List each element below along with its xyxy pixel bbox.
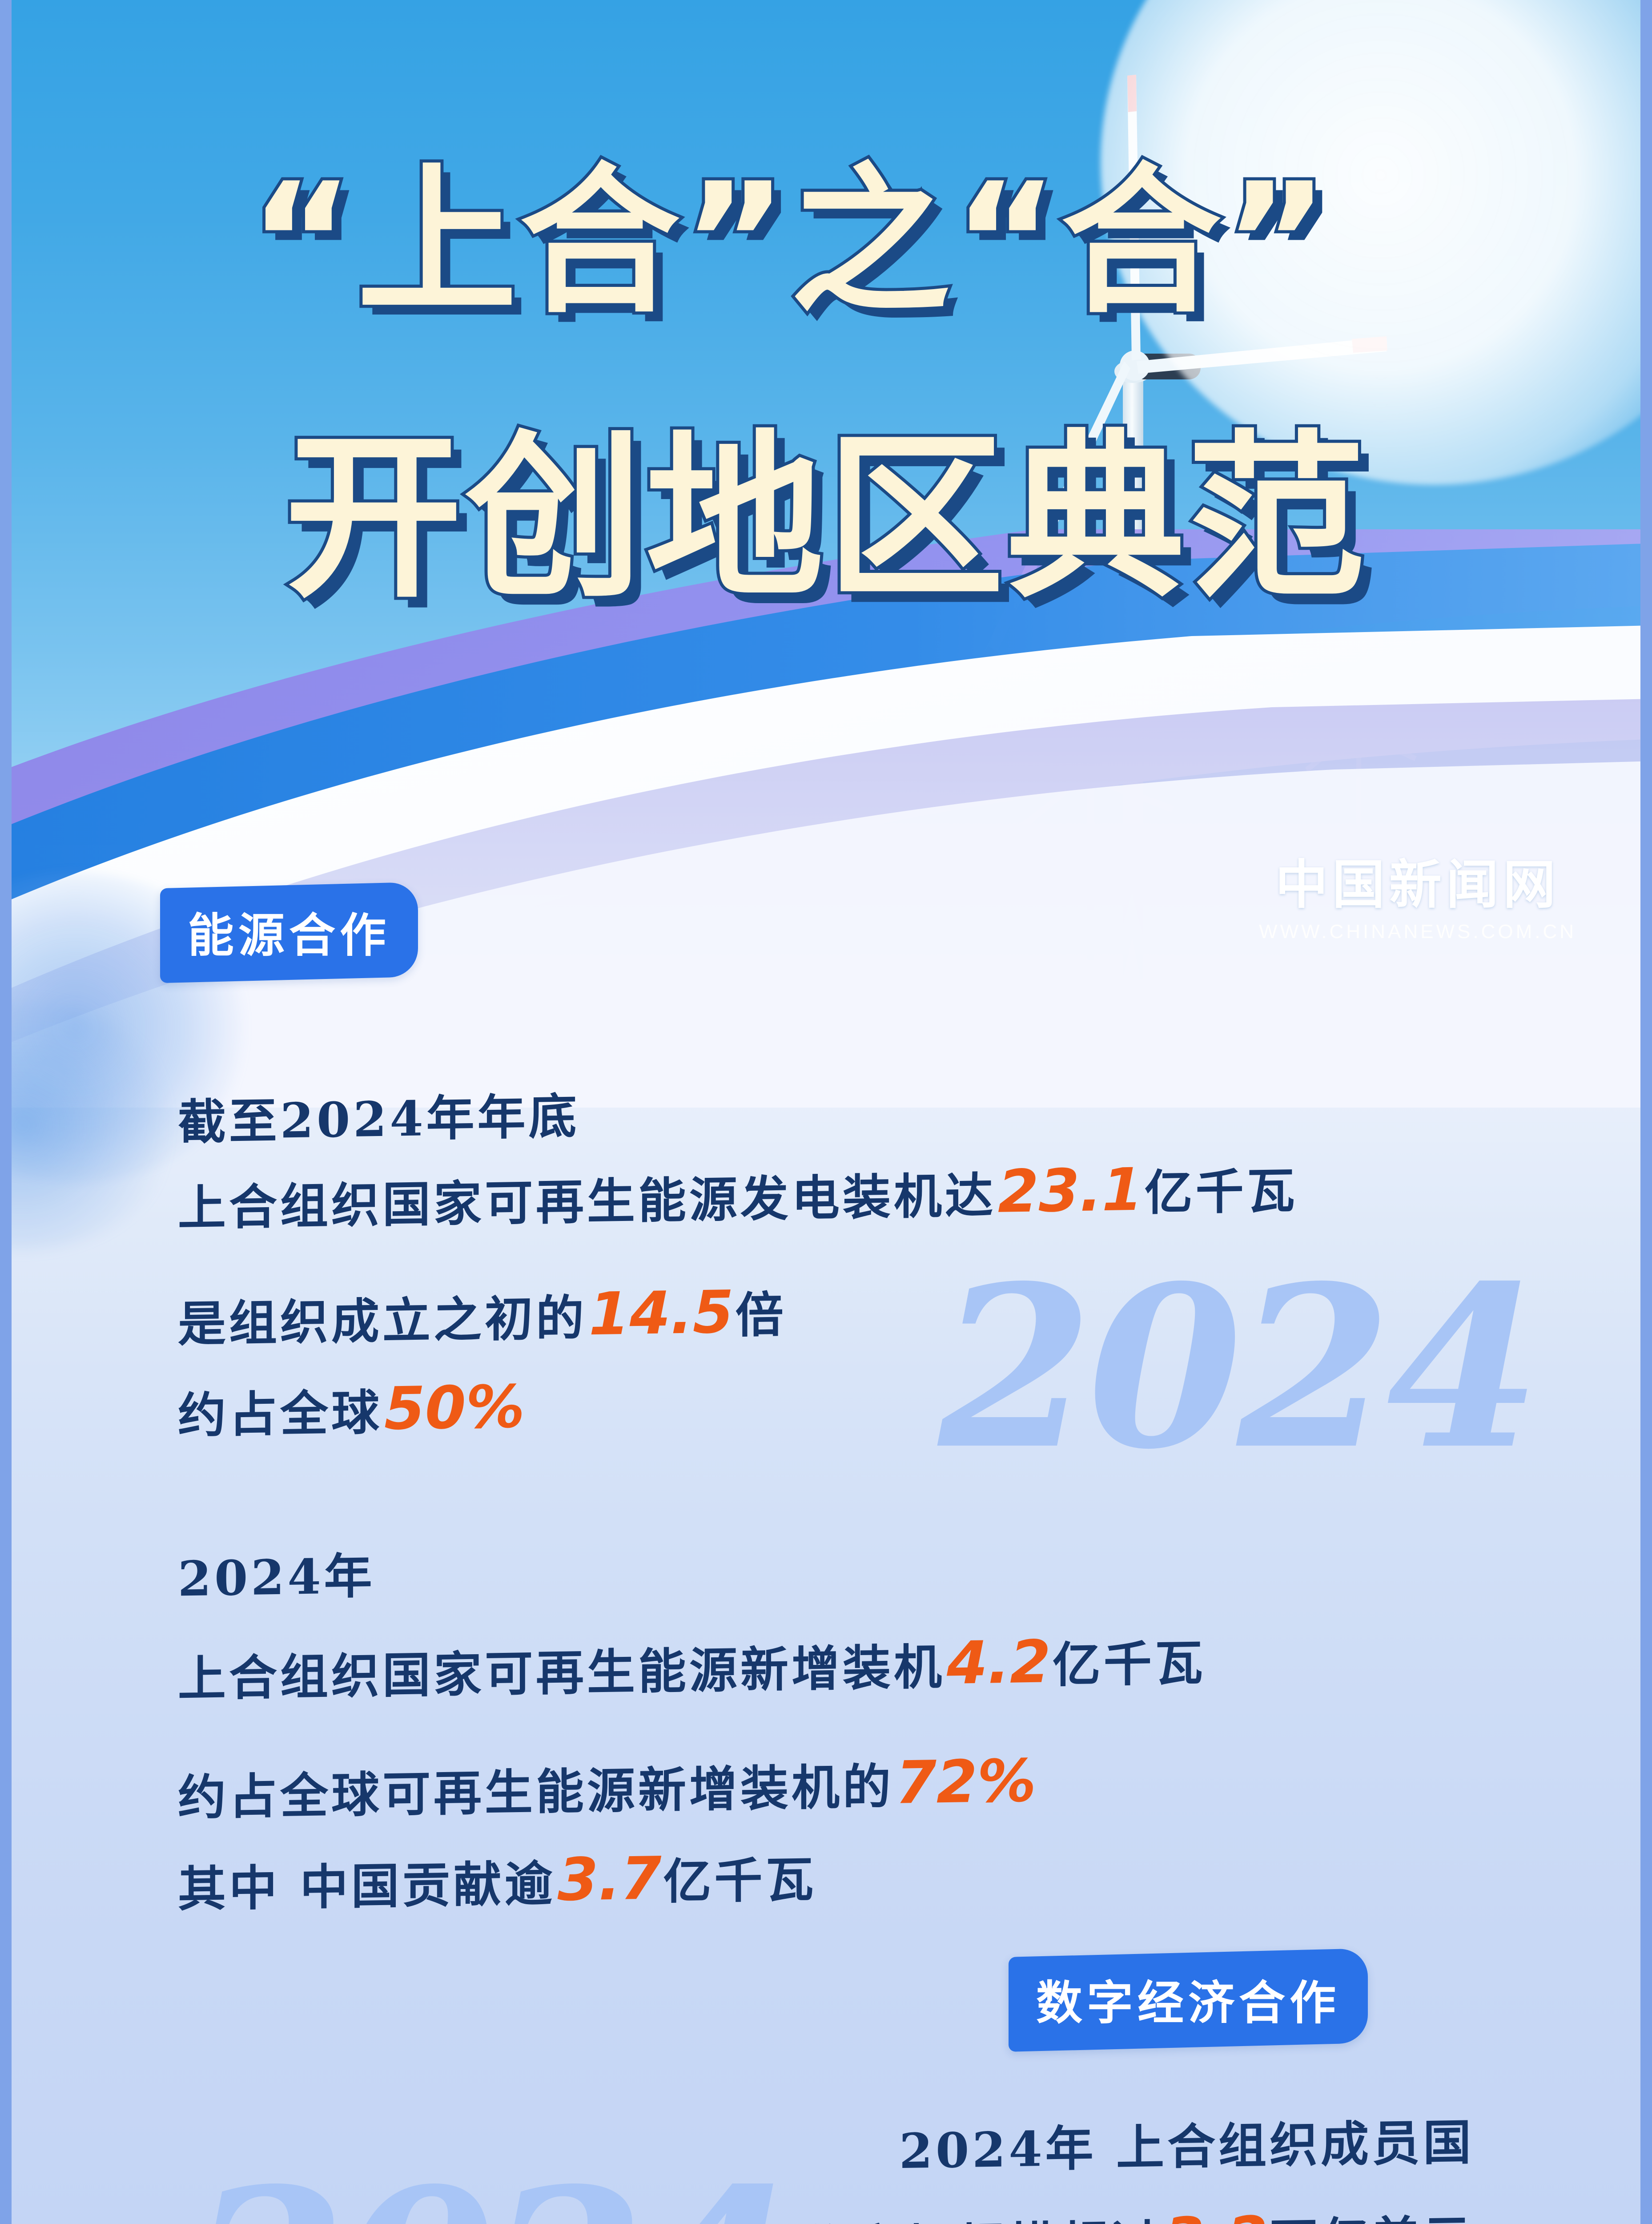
watermark-year-2024-right: 2024 <box>938 1277 1536 1459</box>
stat-number: 4.2 <box>945 1628 1053 1698</box>
stat-unit: 亿千瓦 <box>1145 1163 1298 1221</box>
stat-line-energy-1: 截至2024年年底 <box>178 1078 580 1153</box>
stat-line-energy-5: 2024年 <box>178 1538 375 1610</box>
stat-line-energy-3: 是组织成立之初的14.5倍 <box>178 1276 787 1355</box>
stat-text: 约占全球 <box>178 1385 382 1444</box>
stat-unit: 万亿美元 <box>1270 2210 1474 2224</box>
section-badge-energy-cooperation: 能源合作 <box>160 882 418 983</box>
stat-text: 约占全球可再生能源新增装机的 <box>178 1759 894 1826</box>
title-line-1-text: “上合”之“合” <box>249 149 1331 335</box>
stat-number: 3.2 <box>1162 2204 1270 2224</box>
stat-unit: 亿千瓦 <box>1053 1635 1206 1693</box>
stat-text: 截至2024年年底 <box>178 1088 580 1151</box>
stat-line-energy-8: 其中 中国贡献逾3.7亿千瓦 <box>178 1841 816 1921</box>
stat-text: 2024年 上合组织成员国 <box>899 2115 1474 2180</box>
stat-number: 72% <box>894 1747 1038 1817</box>
stat-line-energy-7: 约占全球可再生能源新增装机的72% <box>178 1746 1038 1829</box>
stat-unit: 亿千瓦 <box>663 1852 816 1910</box>
logo-url: WWW.CHINANEWS.COM.CN <box>1259 921 1576 943</box>
stat-number: 14.5 <box>587 1278 736 1349</box>
chinanews-logo: 中国新闻网 WWW.CHINANEWS.COM.CN <box>1259 858 1576 943</box>
stat-line-digital-1: 2024年 上合组织成员国 <box>899 2104 1474 2182</box>
stat-text: 上合组织国家可再生能源新增装机 <box>178 1639 945 1707</box>
stat-text: 2024年 <box>178 1548 375 1608</box>
infographic-poster: “上合”之“合” 开创地区典范 中国新闻网 WWW.CHINANEWS.COM.… <box>0 0 1652 2224</box>
title-line-2: 开创地区典范 <box>285 374 1368 631</box>
poster-title: “上合”之“合” 开创地区典范 <box>0 0 1652 667</box>
stat-unit: 倍 <box>736 1287 787 1344</box>
section-badge-digital-label: 数字经济合作 <box>1036 1965 1340 2032</box>
stat-text: 网络零售市场规模超过 <box>651 2215 1162 2224</box>
stat-number: 50% <box>382 1373 527 1443</box>
stat-text: 上合组织国家可再生能源发电装机达 <box>178 1168 996 1237</box>
section-badge-energy-label: 能源合作 <box>188 898 390 965</box>
stat-line-energy-4: 约占全球50% <box>178 1372 527 1446</box>
logo-name: 中国新闻网 <box>1259 858 1576 911</box>
stat-text: 其中 中国贡献逾 <box>178 1856 556 1918</box>
stat-number: 3.7 <box>556 1844 663 1914</box>
title-line-1: “上合”之“合” <box>249 111 1331 343</box>
stat-number: 23.1 <box>996 1156 1145 1226</box>
stat-text: 是组织成立之初的 <box>178 1290 587 1352</box>
section-badge-digital-economy: 数字经济合作 <box>1009 1948 1368 2052</box>
